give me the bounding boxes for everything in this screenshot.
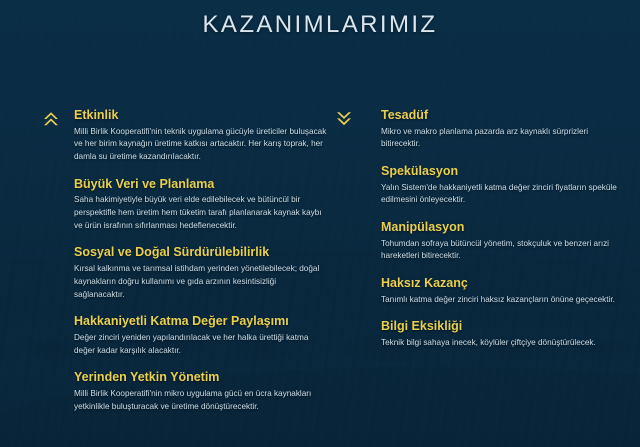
title-bar: KAZANIMLARIMIZ [0,0,640,78]
item-description: Tanımlı katma değer zinciri haksız kazan… [381,294,618,307]
item-description: Saha hakimiyetiyle büyük veri elde edile… [74,194,327,232]
left-item-list: Etkinlik Milli Birlik Kooperatifi'nin te… [36,108,327,413]
list-item: Manipülasyon Tohumdan sofraya bütüncül y… [381,220,618,263]
item-description: Tohumdan sofraya bütüncül yönetim, stokç… [381,238,618,263]
item-description: Yalın Sistem'de hakkaniyetli katma değer… [381,182,618,207]
item-description: Milli Birlik Kooperatifi'nin mikro uygul… [74,388,327,413]
item-description: Kırsal kalkınma ve tarımsal istihdam yer… [74,263,327,301]
list-item: Haksız Kazanç Tanımlı katma değer zincir… [381,276,618,306]
list-item: Etkinlik Milli Birlik Kooperatifi'nin te… [74,108,327,164]
list-item: Yerinden Yetkin Yönetim Milli Birlik Koo… [74,370,327,413]
item-title: Büyük Veri ve Planlama [74,177,327,193]
slide-canvas: KAZANIMLARIMIZ Etkinlik Milli Birlik Koo… [0,0,640,447]
item-title: Sosyal ve Doğal Sürdürülebilirlik [74,245,327,261]
column-right: Tesadüf Mikro ve makro planlama pazarda … [327,108,618,413]
item-title: Etkinlik [74,108,327,124]
list-item: Spekülasyon Yalın Sistem'de hakkaniyetli… [381,164,618,207]
content-columns: Etkinlik Milli Birlik Kooperatifi'nin te… [0,108,640,413]
item-title: Hakkaniyetli Katma Değer Paylaşımı [74,314,327,330]
item-description: Mikro ve makro planlama pazarda arz kayn… [381,126,618,151]
item-title: Yerinden Yetkin Yönetim [74,370,327,386]
list-item: Tesadüf Mikro ve makro planlama pazarda … [381,108,618,151]
column-left: Etkinlik Milli Birlik Kooperatifi'nin te… [36,108,327,413]
chevron-double-down-icon [335,110,353,128]
list-item: Büyük Veri ve Planlama Saha hakimiyetiyl… [74,177,327,233]
page-title: KAZANIMLARIMIZ [203,11,438,39]
list-item: Bilgi Eksikliği Teknik bilgi sahaya inec… [381,319,618,349]
chevron-double-up-icon [42,110,60,128]
list-item: Sosyal ve Doğal Sürdürülebilirlik Kırsal… [74,245,327,301]
item-title: Haksız Kazanç [381,276,618,292]
right-item-list: Tesadüf Mikro ve makro planlama pazarda … [341,108,618,350]
list-item: Hakkaniyetli Katma Değer Paylaşımı Değer… [74,314,327,357]
item-title: Spekülasyon [381,164,618,180]
item-title: Tesadüf [381,108,618,124]
item-title: Bilgi Eksikliği [381,319,618,335]
item-description: Değer zinciri yeniden yapılandırılacak v… [74,332,327,357]
item-description: Teknik bilgi sahaya inecek, köylüler çif… [381,337,618,350]
item-description: Milli Birlik Kooperatifi'nin teknik uygu… [74,126,327,164]
item-title: Manipülasyon [381,220,618,236]
